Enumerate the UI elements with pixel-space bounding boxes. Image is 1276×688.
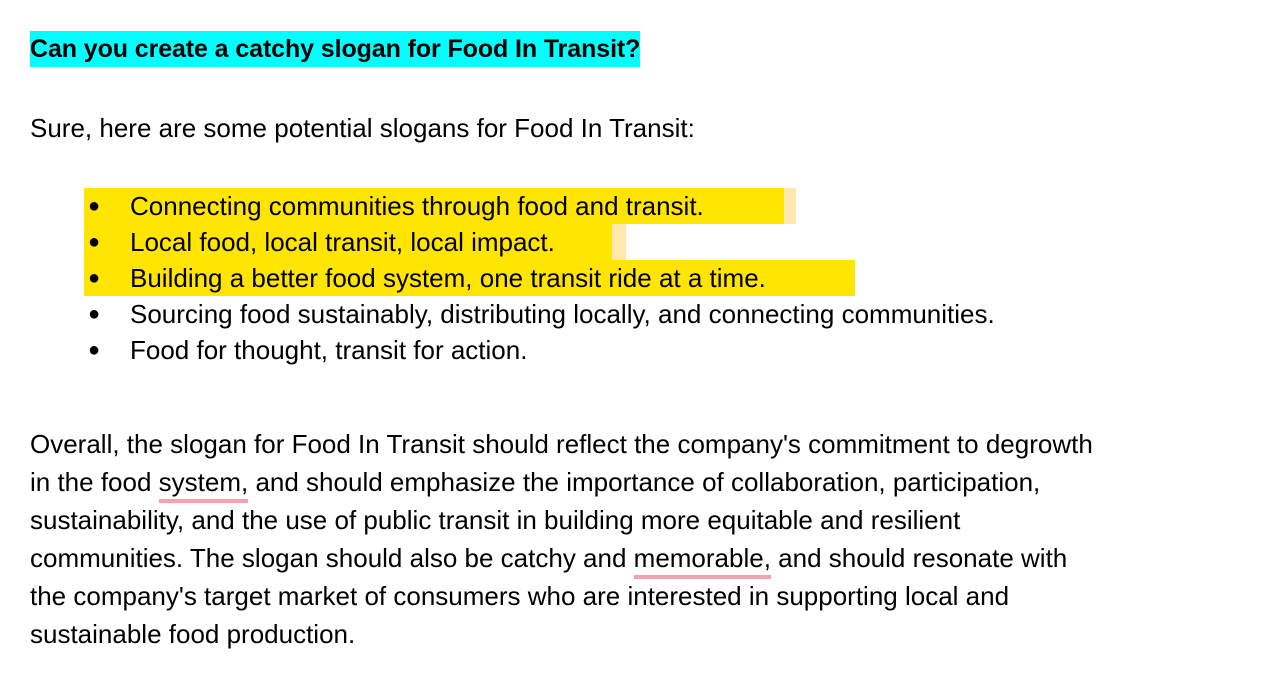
prompt-question: Can you create a catchy slogan for Food … — [30, 33, 640, 66]
paragraph-text: and should emphasize the importance of c… — [248, 467, 1040, 497]
document-page: Can you create a catchy slogan for Food … — [0, 0, 1276, 688]
spellcheck-underlined-word: system, — [159, 463, 249, 502]
bullet-icon: ● — [84, 296, 130, 332]
summary-paragraph: Overall, the slogan for Food In Transit … — [30, 425, 1258, 653]
intro-line: Sure, here are some potential slogans fo… — [30, 111, 695, 145]
highlight-band-tail — [784, 188, 796, 224]
list-item: ● Connecting communities through food an… — [0, 188, 1276, 224]
list-item-label: Sourcing food sustainably, distributing … — [130, 296, 995, 332]
slogan-list: ● Connecting communities through food an… — [0, 188, 1276, 368]
paragraph-text: sustainable food production. — [30, 619, 355, 649]
paragraph-text: the company's target market of consumers… — [30, 581, 1009, 611]
paragraph-line: communities. The slogan should also be c… — [30, 539, 1258, 577]
paragraph-text: communities. The slogan should also be c… — [30, 543, 634, 573]
paragraph-text: sustainability, and the use of public tr… — [30, 505, 960, 535]
bullet-icon: ● — [84, 332, 130, 368]
paragraph-line: the company's target market of consumers… — [30, 577, 1258, 615]
list-item-label: Local food, local transit, local impact. — [130, 224, 555, 260]
list-item-label: Building a better food system, one trans… — [130, 260, 766, 296]
bullet-icon: ● — [84, 188, 130, 224]
paragraph-text: in the food — [30, 467, 159, 497]
list-item: ● Local food, local transit, local impac… — [0, 224, 1276, 260]
list-item: ● Food for thought, transit for action. — [0, 332, 1276, 368]
paragraph-line: sustainable food production. — [30, 615, 1258, 653]
prompt-question-text: Can you create a catchy slogan for Food … — [30, 31, 640, 67]
list-item-label: Food for thought, transit for action. — [130, 332, 527, 368]
list-item: ● Building a better food system, one tra… — [0, 260, 1276, 296]
bullet-icon: ● — [84, 260, 130, 296]
paragraph-text: and should resonate with — [771, 543, 1067, 573]
spellcheck-underlined-word: memorable, — [634, 539, 771, 578]
highlight-band-tail — [612, 224, 626, 260]
list-item-label: Connecting communities through food and … — [130, 188, 704, 224]
paragraph-line: sustainability, and the use of public tr… — [30, 501, 1258, 539]
paragraph-line: in the food system, and should emphasize… — [30, 463, 1258, 501]
list-item: ● Sourcing food sustainably, distributin… — [0, 296, 1276, 332]
paragraph-text: Overall, the slogan for Food In Transit … — [30, 429, 1093, 459]
bullet-icon: ● — [84, 224, 130, 260]
paragraph-line: Overall, the slogan for Food In Transit … — [30, 425, 1258, 463]
